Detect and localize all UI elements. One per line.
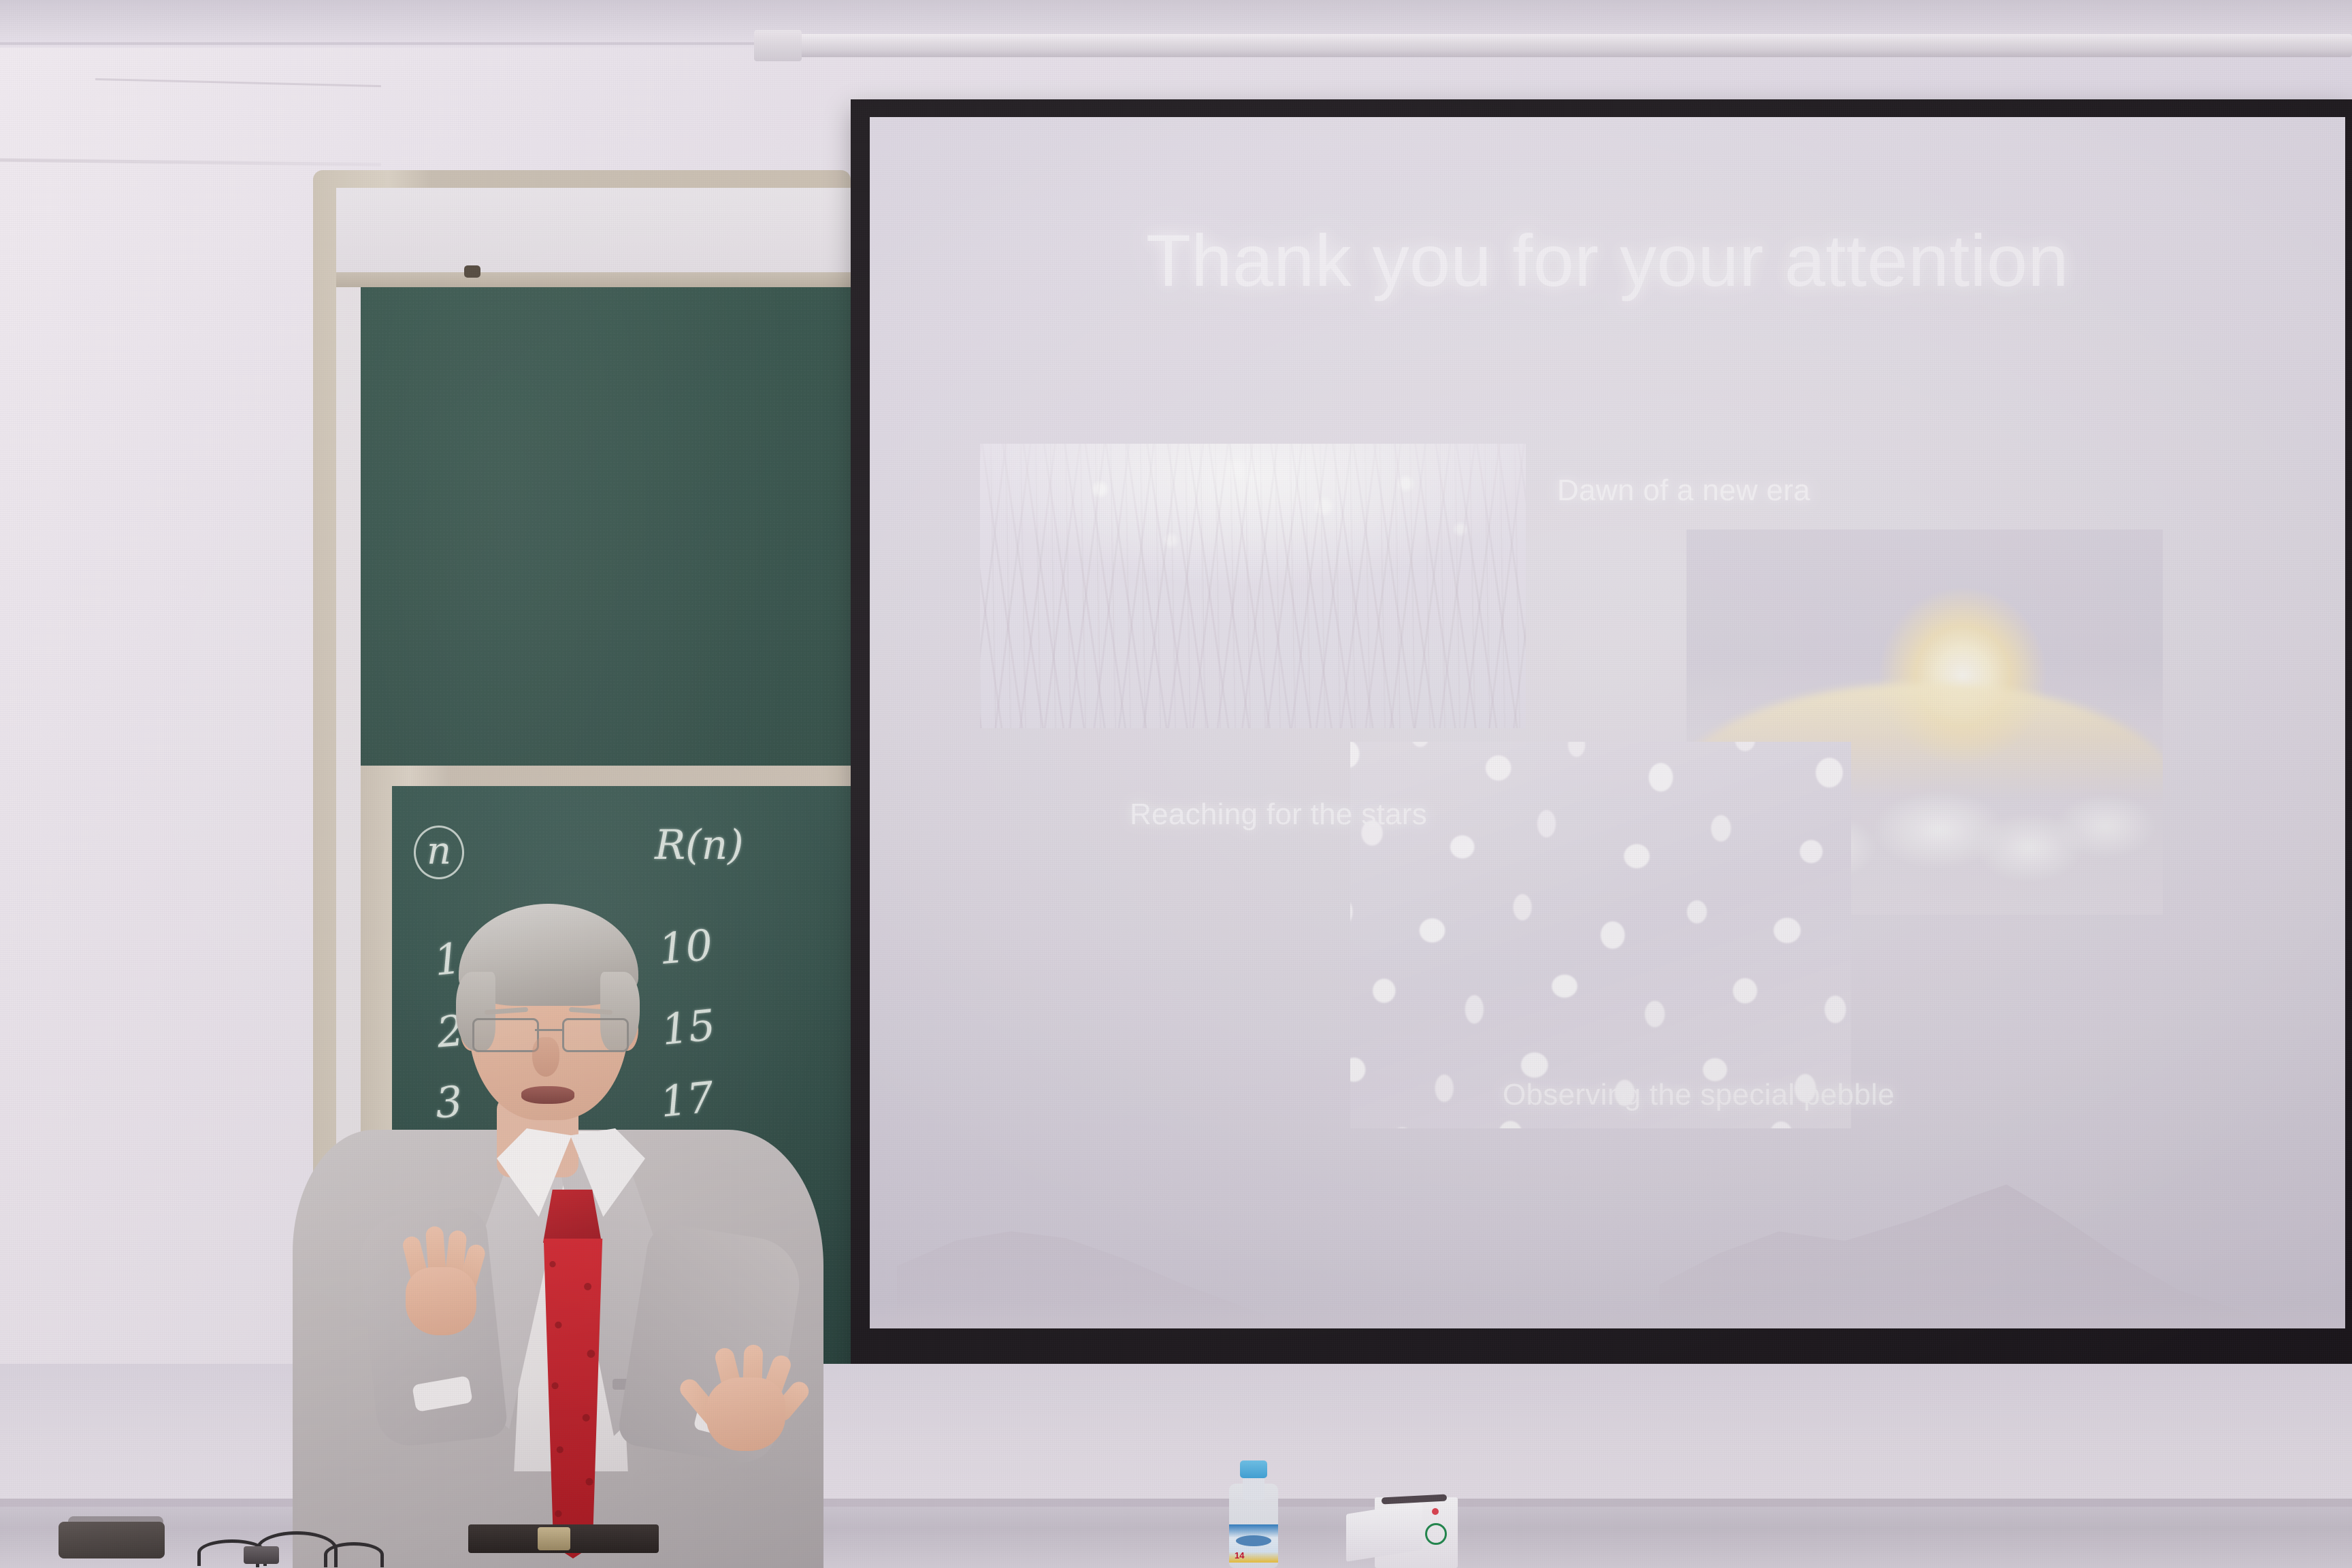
palm <box>706 1377 785 1451</box>
slide-ground-band <box>870 1301 2345 1328</box>
tissue-box-accent-dot <box>1432 1508 1439 1515</box>
bottle-label: 14 <box>1229 1524 1278 1563</box>
bottle-cap <box>1240 1460 1267 1478</box>
glasses-lens-left <box>472 1018 539 1052</box>
cables <box>197 1529 388 1568</box>
palm <box>406 1267 476 1335</box>
ceiling-edge-line <box>0 42 844 45</box>
glasses-lens-right <box>562 1018 629 1052</box>
projected-slide: Thank you for your attention Reaching fo… <box>870 117 2345 1328</box>
slide-caption-pebble: Observing the special pebble <box>1503 1078 1895 1112</box>
presenter <box>293 892 823 1568</box>
chalk-header-rn: R(n) <box>655 821 744 869</box>
bottle-label-swoosh <box>1236 1535 1271 1546</box>
mouth <box>521 1086 574 1104</box>
nose <box>532 1037 559 1077</box>
glasses-bridge <box>535 1029 562 1031</box>
slide-caption-stars: Reaching for the stars <box>1130 798 1427 832</box>
slide-image-forest <box>980 444 1526 728</box>
bottle-neck <box>1243 1475 1264 1500</box>
av-equipment[interactable] <box>41 1515 191 1568</box>
blackboard-knob[interactable] <box>464 265 480 278</box>
tie-knot <box>543 1190 602 1243</box>
slide-caption-dawn: Dawn of a new era <box>1557 474 1810 508</box>
tissue-box-logo-icon <box>1425 1523 1447 1545</box>
blackboard-rail <box>336 272 851 287</box>
cable-loop <box>324 1542 384 1567</box>
hand-left <box>396 1224 483 1338</box>
bottle-label-number: 14 <box>1235 1550 1244 1561</box>
hand-right <box>689 1343 803 1463</box>
lecture-room-photo: n R(n) 1 10 10 2 15 3 17 : : Thank you f… <box>0 0 2352 1568</box>
slide-title: Thank you for your attention <box>870 218 2345 303</box>
equipment-body <box>59 1522 165 1558</box>
chalk-header-n: n <box>414 826 464 879</box>
water-bottle[interactable]: 14 <box>1229 1460 1278 1568</box>
blackboard-upper-gap <box>336 188 851 276</box>
forest-tree-trunks <box>980 444 1526 728</box>
belt-buckle <box>538 1527 570 1550</box>
projection-screen: Thank you for your attention Reaching fo… <box>851 99 2352 1392</box>
projector-screen-roller-cap <box>754 30 802 61</box>
projector-screen-roller <box>754 34 2352 57</box>
tissue-box[interactable] <box>1346 1490 1458 1568</box>
cable-connector <box>244 1546 279 1564</box>
